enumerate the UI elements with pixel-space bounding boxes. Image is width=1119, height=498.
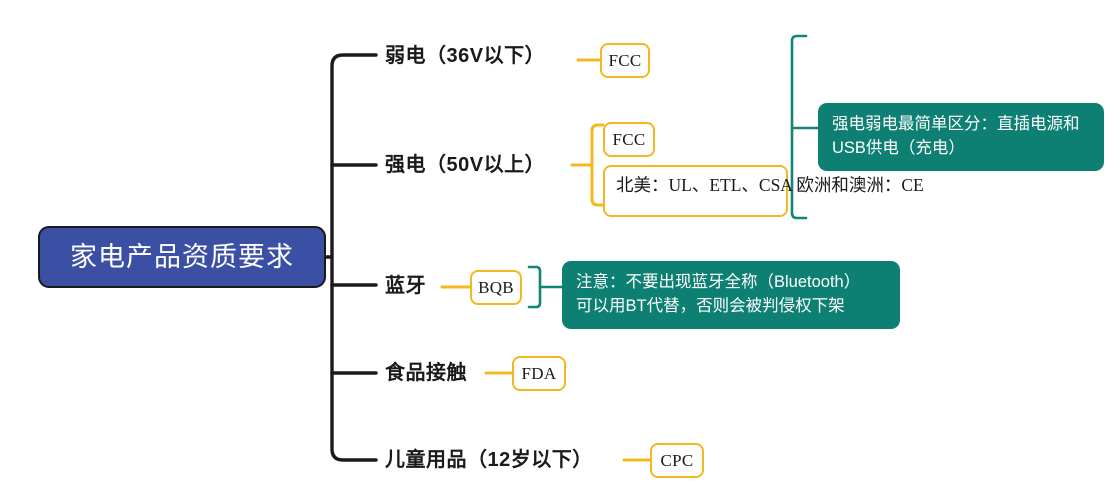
branch-label-bluetooth[interactable]: 蓝牙	[385, 276, 426, 296]
leaf-label-fda: FDA	[522, 364, 557, 384]
leaf-box-regions[interactable]: 北美：UL、ETL、CSA 欧洲和澳洲：CE	[603, 165, 788, 217]
callout-bluetooth-note-line1: 注意：不要出现蓝牙全称（Bluetooth）	[576, 270, 886, 294]
bracket-bluetooth-note	[529, 267, 540, 307]
leaf-line-regions-europe-oceania: 欧洲和澳洲：CE	[796, 175, 923, 195]
leaf-box-fcc-low[interactable]: FCC	[600, 43, 650, 78]
leaf-label-cpc: CPC	[660, 451, 693, 471]
callout-voltage-note[interactable]: 强电弱电最简单区分：直插电源和 USB供电（充电）	[818, 103, 1104, 171]
trunk-outer-path	[332, 55, 376, 460]
leaf-box-fcc-high[interactable]: FCC	[603, 122, 655, 157]
leaf-label-fcc-low: FCC	[608, 51, 641, 71]
callout-bluetooth-note-line2: 可以用BT代替，否则会被判侵权下架	[576, 294, 886, 318]
branch-label-high-voltage[interactable]: 强电（50V以上）	[385, 155, 545, 175]
leaf-label-bqb: BQB	[478, 278, 514, 298]
callout-voltage-note-line2: USB供电（充电）	[832, 136, 1090, 160]
mindmap-canvas: 家电产品资质要求 弱电（36V以下） 强电（50V以上） 蓝牙 食品接触 儿童用…	[0, 0, 1119, 498]
root-node-label: 家电产品资质要求	[70, 244, 294, 271]
branch-label-food-contact[interactable]: 食品接触	[385, 363, 467, 383]
callout-bluetooth-note[interactable]: 注意：不要出现蓝牙全称（Bluetooth） 可以用BT代替，否则会被判侵权下架	[562, 261, 900, 329]
leaf-label-fcc-high: FCC	[612, 130, 645, 150]
leaf-box-cpc[interactable]: CPC	[650, 443, 704, 478]
branch-label-children-products[interactable]: 儿童用品（12岁以下）	[385, 450, 593, 470]
leaf-line-regions-north-america: 北美：UL、ETL、CSA	[616, 175, 792, 195]
root-node[interactable]: 家电产品资质要求	[38, 226, 326, 288]
leaf-fork-high-voltage	[592, 125, 603, 205]
callout-voltage-note-line1: 强电弱电最简单区分：直插电源和	[832, 112, 1090, 136]
leaf-box-fda[interactable]: FDA	[512, 356, 566, 391]
leaf-box-bqb[interactable]: BQB	[470, 270, 522, 305]
branch-label-low-voltage[interactable]: 弱电（36V以下）	[385, 46, 545, 66]
